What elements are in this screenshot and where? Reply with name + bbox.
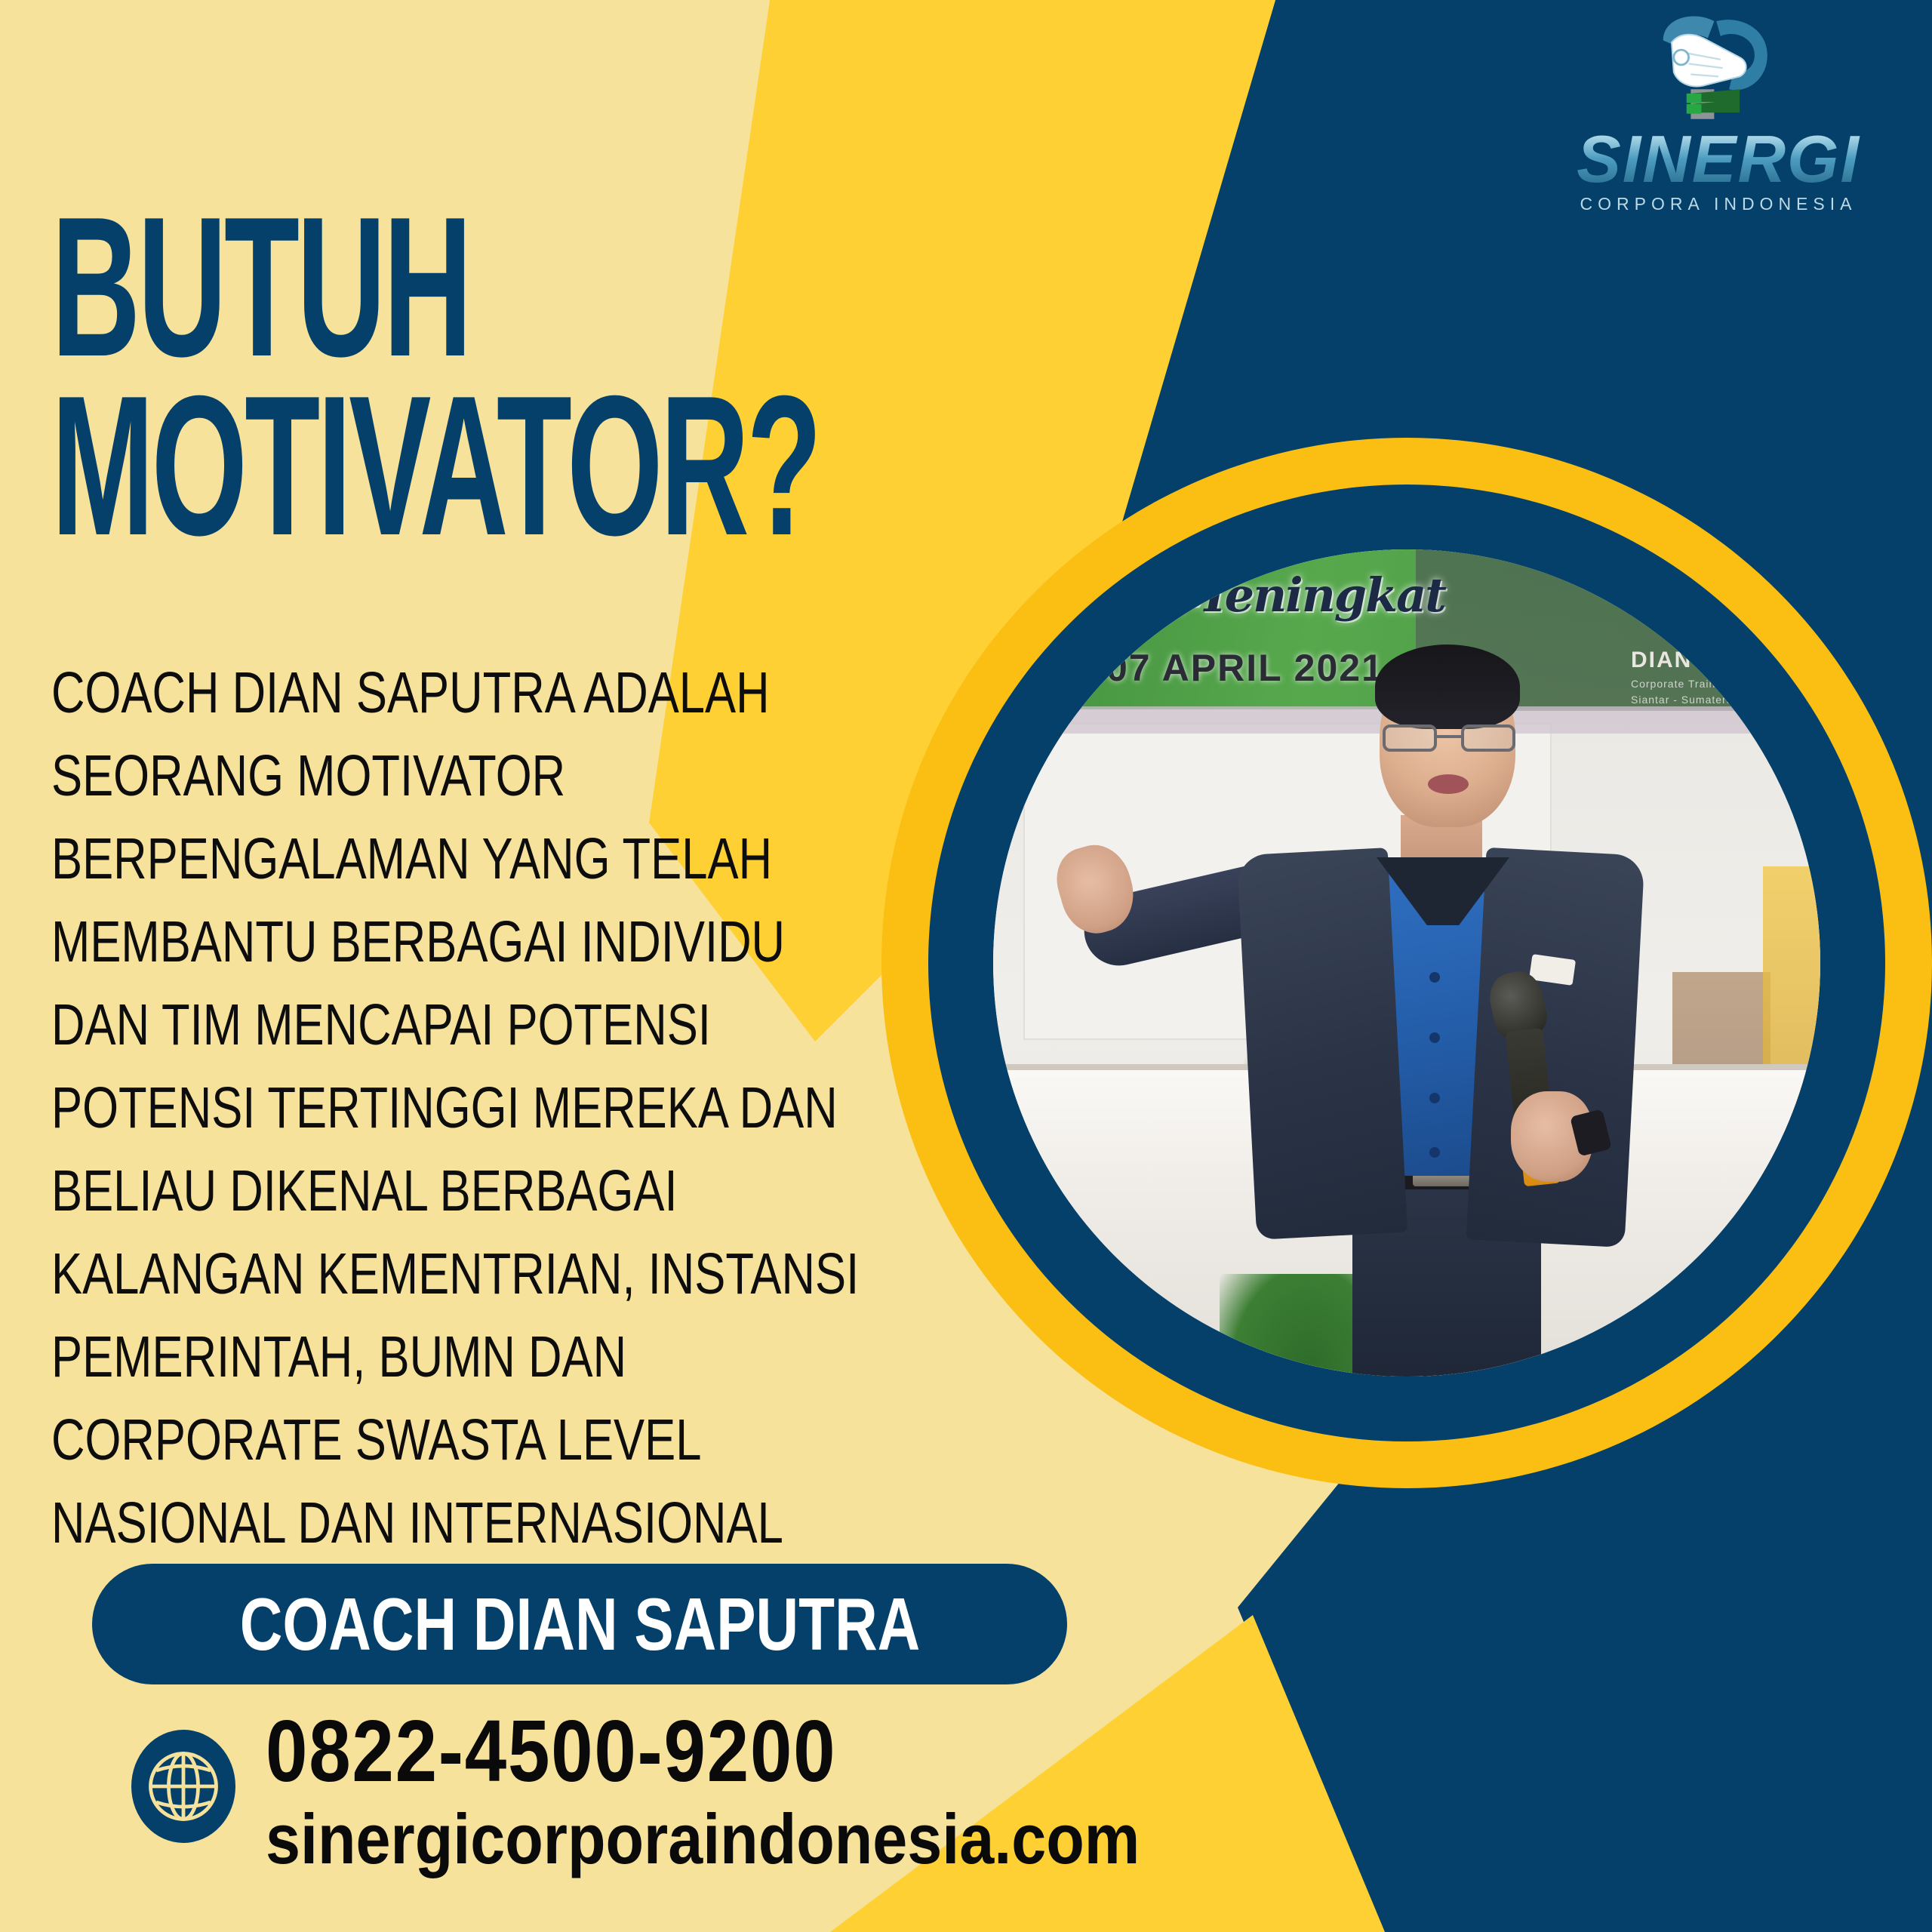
speaker-jacket-left xyxy=(1237,848,1407,1240)
phone-number[interactable]: 0822-4500-9200 xyxy=(266,1707,1120,1795)
headline-line-1: BUTUH xyxy=(51,207,660,366)
handshake-globe-icon xyxy=(1571,11,1866,128)
body-line: DAN TIM MENCAPAI POTENSI xyxy=(51,996,752,1054)
speaker-glasses-icon xyxy=(1383,724,1515,753)
globe-icon xyxy=(127,1730,240,1843)
body-paragraph: COACH DIAN SAPUTRA ADALAH SEORANG MOTIVA… xyxy=(51,664,927,1577)
photo-banner-name: DIAN SAPUTRA xyxy=(1631,648,1820,673)
speaker-jacket-right xyxy=(1466,848,1645,1247)
body-line: SEORANG MOTIVATOR xyxy=(51,747,752,805)
speaker-hair xyxy=(1375,645,1520,729)
speaker-shirt-button xyxy=(1429,1147,1440,1158)
photo-banner-subtitle: Corporate Trainer & Motivator Pematang S… xyxy=(1631,676,1820,708)
website-url[interactable]: sinergicorporaindonesia.com xyxy=(266,1802,1140,1877)
coach-name-badge: COACH DIAN SAPUTRA xyxy=(92,1564,1067,1684)
body-line: POTENSI TERTINGGI MEREKA DAN xyxy=(51,1079,752,1137)
contact-block: 0822-4500-9200 sinergicorporaindonesia.c… xyxy=(127,1703,1259,1877)
body-line: NASIONAL DAN INTERNASIONAL xyxy=(51,1494,752,1552)
body-line: BELIAU DIKENAL BERBAGAI xyxy=(51,1162,752,1220)
logo-tagline: CORPORA INDONESIA xyxy=(1571,194,1866,214)
speaker-mouth xyxy=(1428,774,1469,794)
headline: BUTUH MOTIVATOR? xyxy=(51,207,1032,545)
body-line: MEMBANTU BERBAGAI INDIVIDU xyxy=(51,913,752,971)
contact-text-group: 0822-4500-9200 sinergicorporaindonesia.c… xyxy=(266,1703,1259,1877)
brand-logo: SINERGI CORPORA INDONESIA xyxy=(1571,11,1866,214)
headline-line-2: MOTIVATOR? xyxy=(51,386,660,545)
speaker-shirt-button xyxy=(1429,1032,1440,1043)
body-line: PEMERINTAH, BUMN DAN xyxy=(51,1328,752,1386)
speaker-photo: Meningkat 07 APRIL 2021 DIAN SAPUTRA Cor… xyxy=(993,549,1820,1377)
speaker-shirt-button xyxy=(1429,1093,1440,1103)
photo-banner-script-text: Meningkat xyxy=(1174,568,1445,623)
photo-banner-date: 07 APRIL 2021 xyxy=(1106,646,1384,690)
speaker-shirt-button xyxy=(1429,972,1440,983)
coach-name-label: COACH DIAN SAPUTRA xyxy=(239,1582,920,1667)
body-line: BERPENGALAMAN YANG TELAH xyxy=(51,830,752,888)
portrait-frame: Meningkat 07 APRIL 2021 DIAN SAPUTRA Cor… xyxy=(881,438,1932,1488)
photo-banner-portrait xyxy=(1721,565,1812,655)
body-line: CORPORATE SWASTA LEVEL xyxy=(51,1411,752,1469)
body-line: COACH DIAN SAPUTRA ADALAH xyxy=(51,664,752,722)
poster-root: SINERGI CORPORA INDONESIA Meningkat 07 A… xyxy=(0,0,1932,1932)
body-line: KALANGAN KEMENTRIAN, INSTANSI xyxy=(51,1245,752,1303)
logo-wordmark: SINERGI xyxy=(1571,131,1866,188)
